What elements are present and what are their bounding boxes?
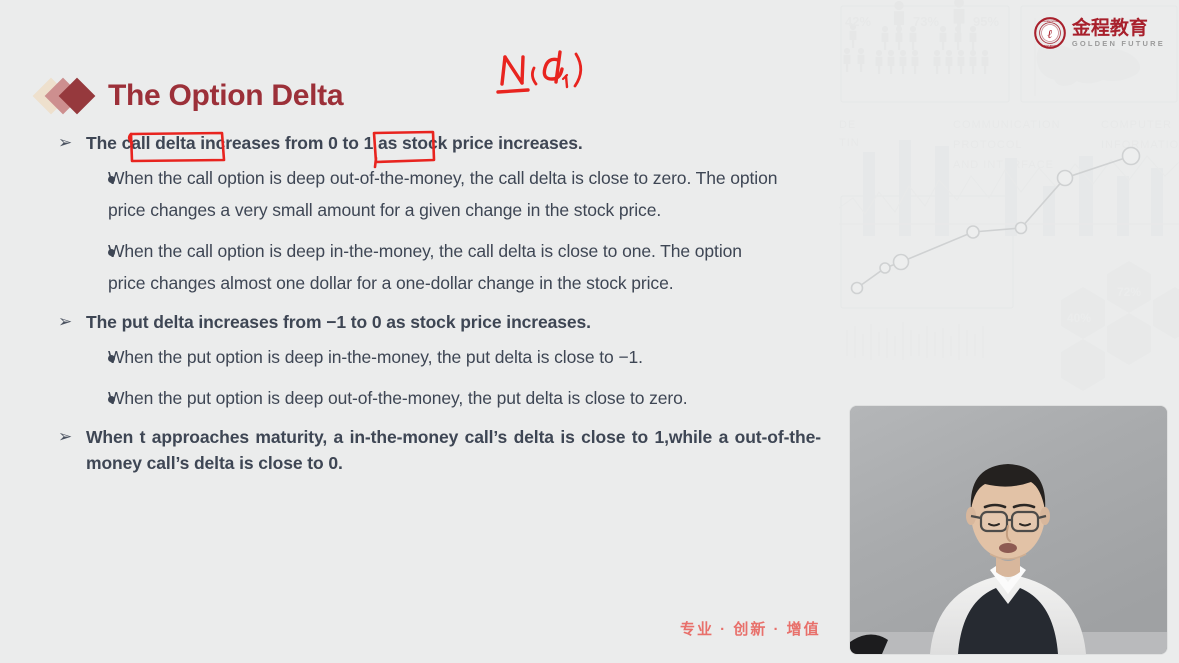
presentation-slide: 42% 73% 95% DE TIN COMMUNICATION PROTOCO…: [0, 0, 1179, 663]
svg-text:GOLDEN FUTURE: GOLDEN FUTURE: [1041, 21, 1060, 23]
bullet-text: When the put option is deep out-of-the-m…: [108, 382, 780, 414]
sub-bullet-group: When the put option is deep in-the-money…: [56, 341, 846, 414]
logo-english-name: GOLDEN FUTURE: [1072, 40, 1165, 48]
bullet-text: The call delta increases from 0 to 1 as …: [86, 130, 583, 156]
bullet-level2: When the put option is deep in-the-money…: [56, 341, 846, 373]
footer-slogan: 专业 · 创新 · 增值: [680, 618, 821, 639]
dot-bullet-icon: [56, 235, 108, 267]
bullet-level2: When the call option is deep out-of-the-…: [56, 162, 846, 226]
bullet-level1: ➢ The put delta increases from −1 to 0 a…: [56, 309, 846, 335]
webcam-feed-image: [850, 406, 1167, 654]
background-infographic-watermark: 42% 73% 95% DE TIN COMMUNICATION PROTOCO…: [839, 0, 1179, 410]
arrow-bullet-icon: ➢: [56, 424, 86, 450]
webcam-video-panel[interactable]: [850, 406, 1167, 654]
bullet-text: When the call option is deep out-of-the-…: [108, 162, 780, 226]
dot-bullet-icon: [56, 341, 108, 373]
bullet-level1: ➢ The call delta increases from 0 to 1 a…: [56, 130, 846, 156]
logo-text: 金程教育 GOLDEN FUTURE: [1072, 19, 1165, 48]
bullet-level2: When the put option is deep out-of-the-m…: [56, 382, 846, 414]
bullet-text: When t approaches maturity, a in-the-mon…: [86, 424, 821, 476]
svg-text:73%: 73%: [913, 14, 939, 29]
svg-text:INFORMATION: INFORMATION: [1101, 139, 1179, 151]
slide-body: ➢ The call delta increases from 0 to 1 a…: [56, 130, 846, 480]
title-diamond-decoration-icon: [38, 77, 100, 115]
svg-text:72%: 72%: [1117, 285, 1141, 299]
bullet-level2: When the call option is deep in-the-mone…: [56, 235, 846, 299]
bg-line-chart: [852, 148, 1140, 294]
svg-text:COMPUTER: COMPUTER: [1101, 119, 1172, 131]
svg-text:ℓ: ℓ: [1047, 27, 1052, 41]
svg-text:COMMUNICATION: COMMUNICATION: [953, 119, 1061, 131]
page-title: The Option Delta: [108, 79, 343, 113]
svg-text:AND INTERFACE: AND INTERFACE: [953, 159, 1054, 171]
bullet-text: The put delta increases from −1 to 0 as …: [86, 309, 591, 335]
handwriting-formula-nd1: [498, 52, 581, 92]
svg-text:95%: 95%: [973, 14, 999, 29]
bullet-level1: ➢ When t approaches maturity, a in-the-m…: [56, 424, 846, 476]
svg-text:40%: 40%: [1067, 311, 1091, 325]
slide-title-row: The Option Delta: [38, 72, 343, 120]
logo-emblem-icon: ℓ GOLDEN FUTURE EDUCATION: [1034, 17, 1066, 49]
svg-text:PROTOCOL: PROTOCOL: [953, 139, 1023, 151]
dot-bullet-icon: [56, 162, 108, 194]
bullet-text: When the put option is deep in-the-money…: [108, 341, 780, 373]
sub-bullet-group: When the call option is deep out-of-the-…: [56, 162, 846, 299]
brand-logo: ℓ GOLDEN FUTURE EDUCATION 金程教育 GOLDEN FU…: [1034, 16, 1165, 50]
bullet-text: When the call option is deep in-the-mone…: [108, 235, 780, 299]
dot-bullet-icon: [56, 382, 108, 414]
svg-text:EDUCATION: EDUCATION: [1044, 45, 1057, 48]
svg-text:42%: 42%: [845, 14, 871, 29]
arrow-bullet-icon: ➢: [56, 309, 86, 335]
logo-chinese-name: 金程教育: [1072, 19, 1165, 38]
arrow-bullet-icon: ➢: [56, 130, 86, 156]
